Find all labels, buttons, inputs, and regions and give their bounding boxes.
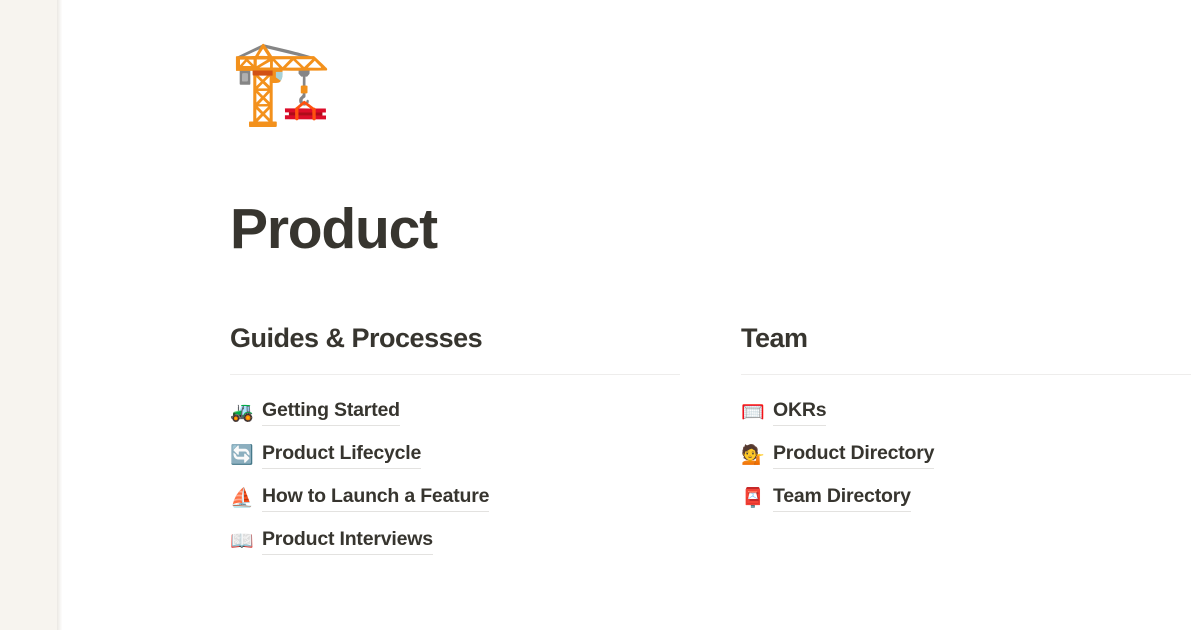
link-getting-started[interactable]: Getting Started xyxy=(262,398,400,426)
list-item[interactable]: ⛵ How to Launch a Feature xyxy=(230,477,680,520)
page-title: Product xyxy=(230,198,437,261)
tractor-icon: 🚜 xyxy=(230,403,253,422)
arrows-counterclockwise-icon: 🔄 xyxy=(230,446,253,465)
link-list-guides: 🚜 Getting Started 🔄 Product Lifecycle ⛵ … xyxy=(230,391,680,563)
list-item[interactable]: 🥅 OKRs xyxy=(741,391,1200,434)
sailboat-icon: ⛵ xyxy=(230,489,253,508)
page-content: 🏗️ Product Guides & Processes 🚜 Getting … xyxy=(62,0,1200,630)
column-team: Team 🥅 OKRs 💁 Product Directory 📮 Team D… xyxy=(741,322,1200,563)
list-item[interactable]: 📮 Team Directory xyxy=(741,477,1200,520)
list-item[interactable]: 💁 Product Directory xyxy=(741,434,1200,477)
page-root: 🏗️ Product Guides & Processes 🚜 Getting … xyxy=(0,0,1200,630)
list-item[interactable]: 🔄 Product Lifecycle xyxy=(230,434,680,477)
columns-container: Guides & Processes 🚜 Getting Started 🔄 P… xyxy=(230,322,1200,563)
link-how-to-launch-a-feature[interactable]: How to Launch a Feature xyxy=(262,484,489,512)
list-item[interactable]: 🚜 Getting Started xyxy=(230,391,680,434)
link-product-interviews[interactable]: Product Interviews xyxy=(262,527,433,555)
link-product-directory[interactable]: Product Directory xyxy=(773,441,934,469)
link-list-team: 🥅 OKRs 💁 Product Directory 📮 Team Direct… xyxy=(741,391,1200,520)
section-heading-team: Team xyxy=(741,322,1200,356)
link-okrs[interactable]: OKRs xyxy=(773,398,826,426)
link-product-lifecycle[interactable]: Product Lifecycle xyxy=(262,441,421,469)
list-item[interactable]: 📖 Product Interviews xyxy=(230,520,680,563)
page-icon-crane-icon[interactable]: 🏗️ xyxy=(230,42,332,124)
person-tipping-hand-icon: 💁 xyxy=(741,446,764,465)
section-heading-guides: Guides & Processes xyxy=(230,322,680,356)
collapsed-sidebar-rail[interactable] xyxy=(0,0,57,630)
section-divider-guides xyxy=(230,374,680,375)
section-divider-team xyxy=(741,374,1191,375)
link-team-directory[interactable]: Team Directory xyxy=(773,484,911,512)
postbox-icon: 📮 xyxy=(741,489,764,508)
goal-net-icon: 🥅 xyxy=(741,403,764,422)
column-guides-and-processes: Guides & Processes 🚜 Getting Started 🔄 P… xyxy=(230,322,680,563)
open-book-icon: 📖 xyxy=(230,532,253,551)
